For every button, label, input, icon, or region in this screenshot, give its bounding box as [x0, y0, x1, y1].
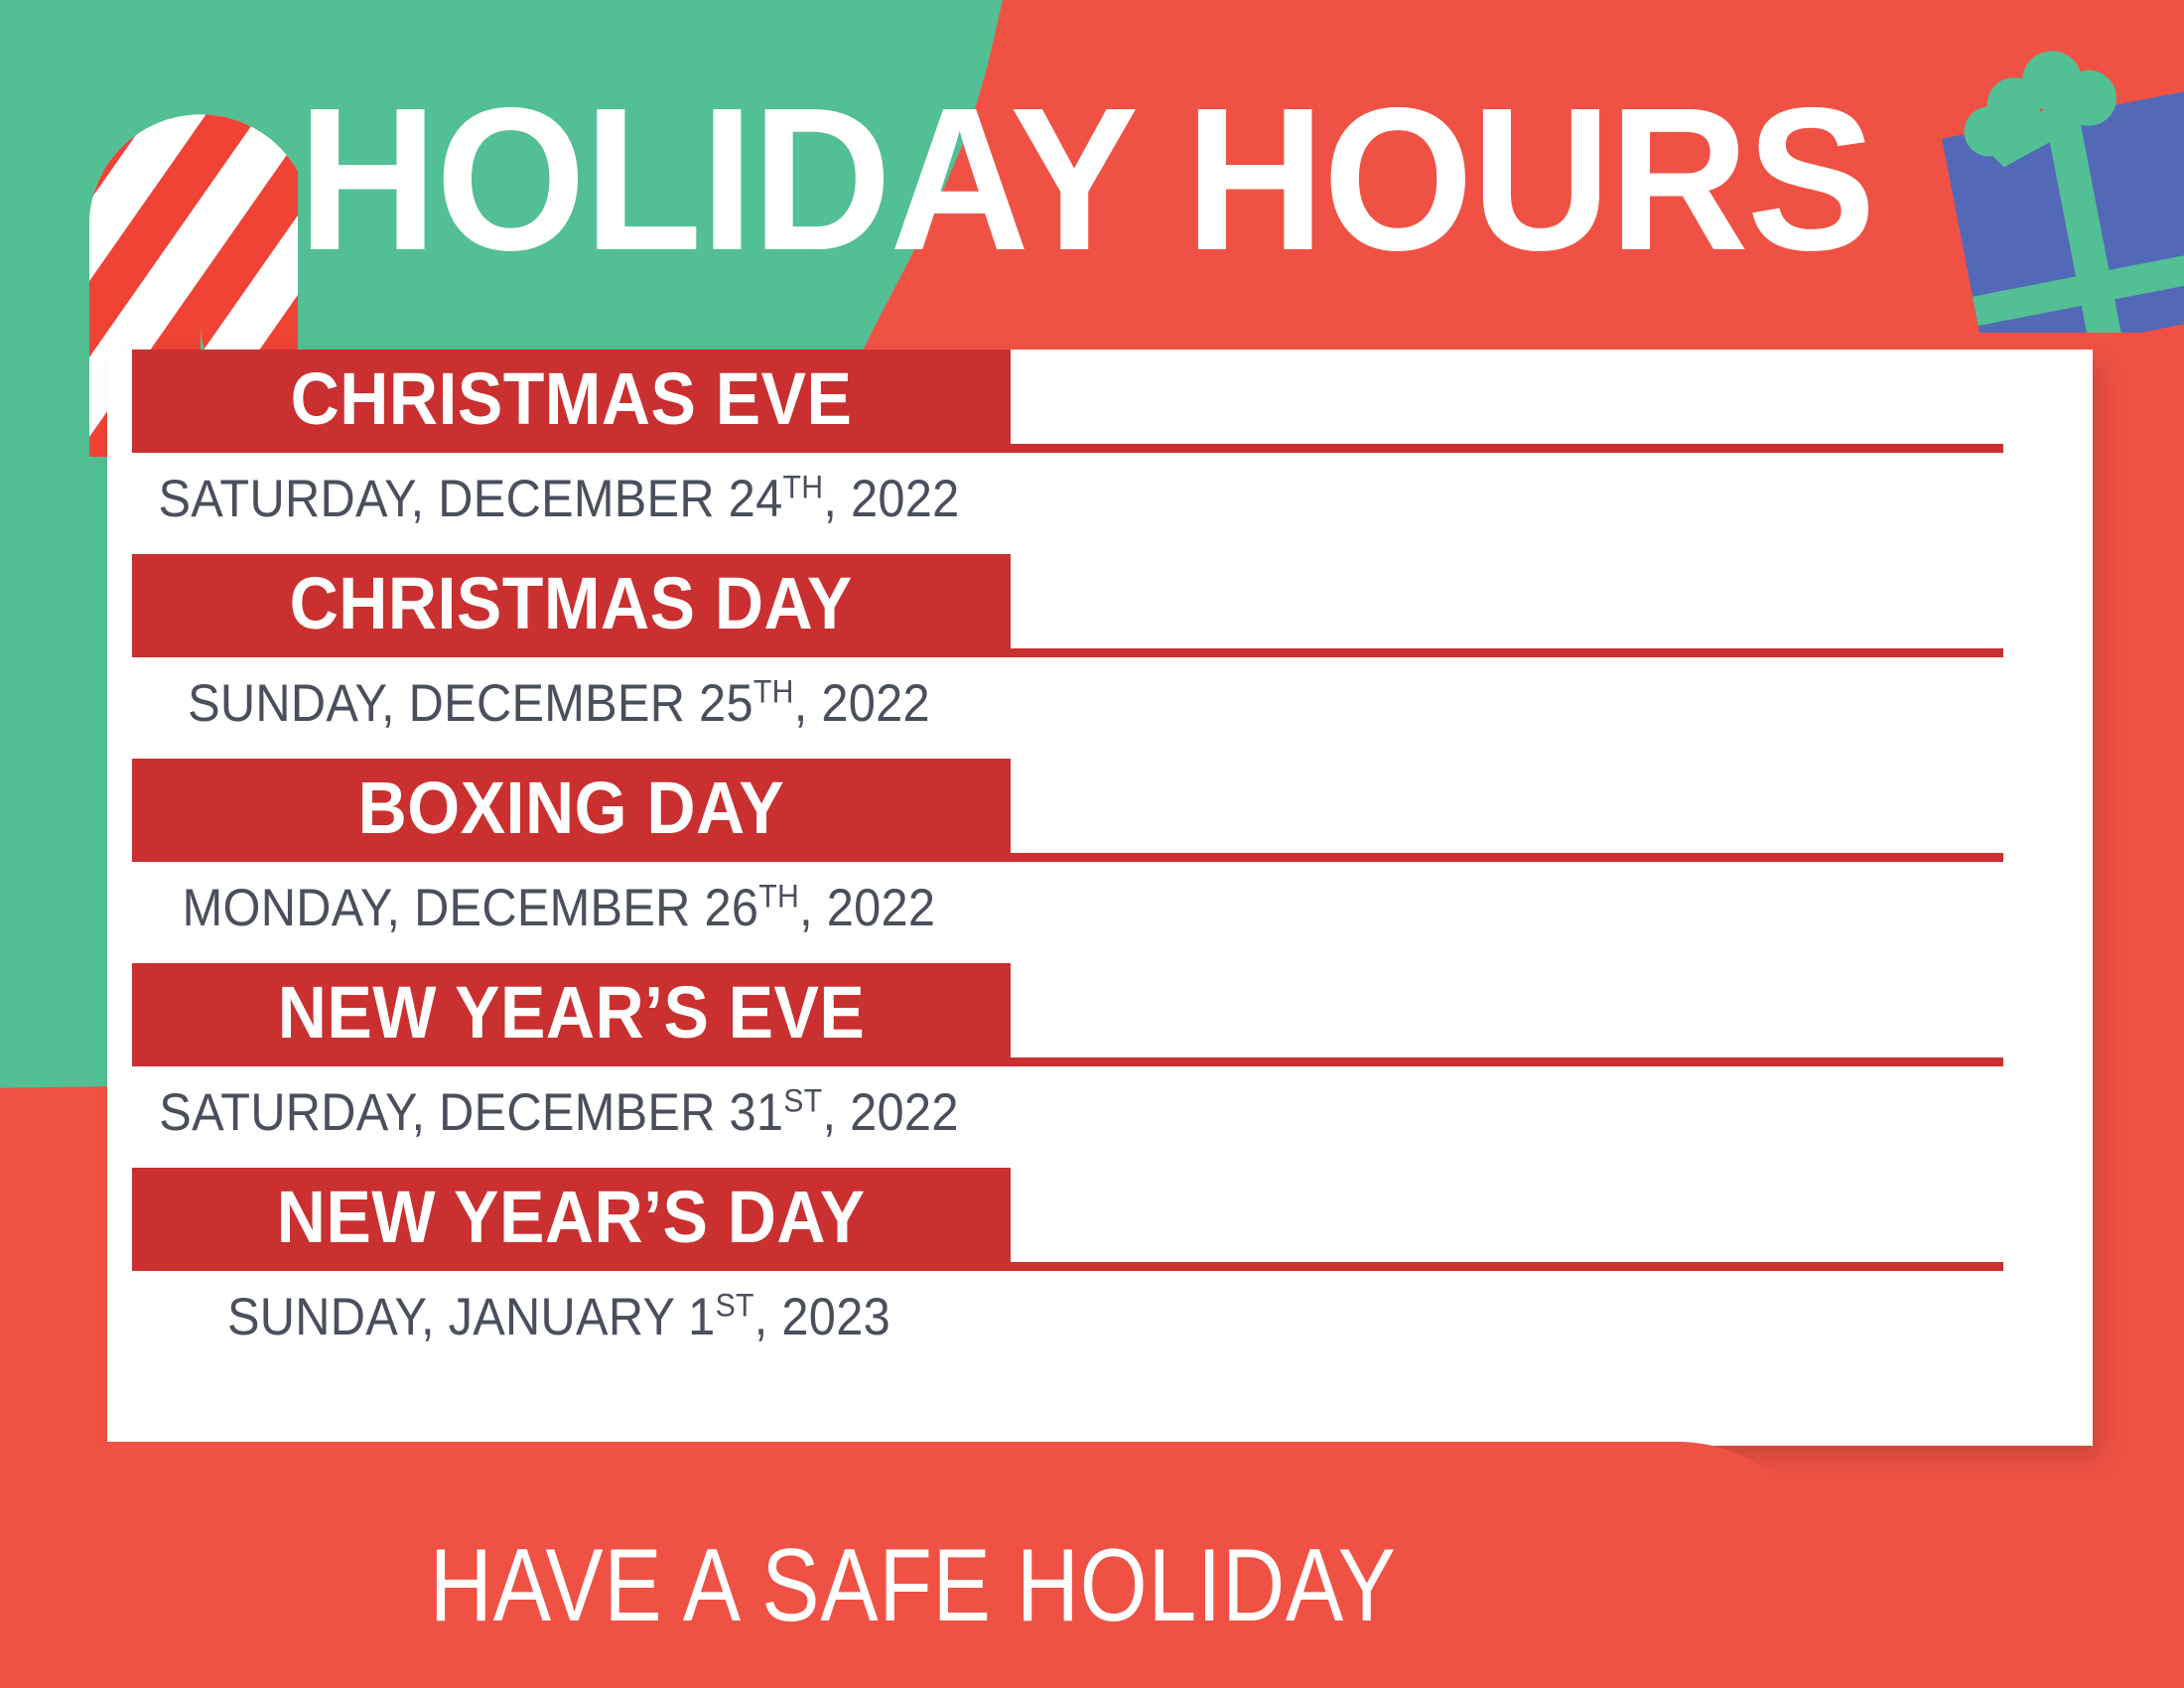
holiday-date: SUNDAY, JANUARY 1ST, 2023: [143, 1287, 974, 1347]
hours-rule-line: [1011, 648, 2003, 657]
holiday-date-year: , 2023: [754, 1288, 890, 1346]
holiday-date: SUNDAY, DECEMBER 25TH, 2022: [143, 673, 974, 734]
holiday-name: NEW YEAR’S EVE: [278, 976, 866, 1050]
holiday-hours-poster: HOLIDAY HOURS CHRISTMAS EVE SATURDAY, DE…: [0, 0, 2184, 1688]
holiday-banner: CHRISTMAS EVE: [132, 350, 1011, 453]
holiday-date-ordinal: TH: [782, 468, 823, 504]
banner-wrap: CHRISTMAS EVE: [107, 350, 2093, 453]
holiday-date-year: , 2022: [794, 674, 930, 733]
holiday-date-ordinal: ST: [783, 1081, 822, 1118]
holiday-name: NEW YEAR’S DAY: [277, 1181, 866, 1254]
holiday-banner: NEW YEAR’S DAY: [132, 1168, 1011, 1271]
holiday-date-year: , 2022: [823, 470, 959, 528]
schedule-row: NEW YEAR’S DAY SUNDAY, JANUARY 1ST, 2023: [107, 1168, 2093, 1372]
schedule-row: CHRISTMAS EVE SATURDAY, DECEMBER 24TH, 2…: [107, 350, 2093, 554]
holiday-date: MONDAY, DECEMBER 26TH, 2022: [143, 878, 974, 938]
holiday-date-weekday: SATURDAY, DECEMBER 31: [159, 1083, 783, 1142]
holiday-date-weekday: MONDAY, DECEMBER 26: [183, 879, 759, 937]
hours-rule-line: [1011, 1057, 2003, 1066]
schedule-rows: CHRISTMAS EVE SATURDAY, DECEMBER 24TH, 2…: [107, 350, 2093, 1372]
holiday-date-weekday: SATURDAY, DECEMBER 24: [158, 470, 782, 528]
holiday-banner: CHRISTMAS DAY: [132, 554, 1011, 657]
hours-rule-line: [1011, 1262, 2003, 1271]
schedule-card: CHRISTMAS EVE SATURDAY, DECEMBER 24TH, 2…: [107, 350, 2093, 1446]
holiday-date-year: , 2022: [822, 1083, 958, 1142]
holiday-name: CHRISTMAS EVE: [291, 362, 853, 436]
holiday-date-weekday: SUNDAY, JANUARY 1: [227, 1288, 716, 1346]
schedule-row: NEW YEAR’S EVE SATURDAY, DECEMBER 31ST, …: [107, 963, 2093, 1168]
banner-wrap: NEW YEAR’S EVE: [107, 963, 2093, 1066]
hours-rule-line: [1011, 853, 2003, 862]
bottom-ribbon: HAVE A SAFE HOLIDAY: [0, 1442, 1827, 1688]
gift-box-icon: [1941, 35, 2184, 333]
holiday-date-ordinal: TH: [758, 877, 799, 914]
banner-wrap: NEW YEAR’S DAY: [107, 1168, 2093, 1271]
holiday-date-weekday: SUNDAY, DECEMBER 25: [188, 674, 753, 733]
page-title: HOLIDAY HOURS: [298, 77, 1874, 281]
banner-wrap: BOXING DAY: [107, 759, 2093, 862]
hours-rule-line: [1011, 444, 2003, 453]
holiday-date: SATURDAY, DECEMBER 31ST, 2022: [143, 1082, 974, 1143]
schedule-row: CHRISTMAS DAY SUNDAY, DECEMBER 25TH, 202…: [107, 554, 2093, 759]
holiday-date-ordinal: ST: [716, 1286, 754, 1323]
tagline: HAVE A SAFE HOLIDAY: [430, 1534, 1397, 1637]
holiday-banner: NEW YEAR’S EVE: [132, 963, 1011, 1066]
banner-wrap: CHRISTMAS DAY: [107, 554, 2093, 657]
holiday-banner: BOXING DAY: [132, 759, 1011, 862]
holiday-date-year: , 2022: [799, 879, 935, 937]
holiday-date: SATURDAY, DECEMBER 24TH, 2022: [143, 469, 974, 529]
holiday-date-ordinal: TH: [753, 672, 794, 709]
holiday-name: BOXING DAY: [358, 772, 785, 845]
holiday-name: CHRISTMAS DAY: [290, 567, 853, 640]
schedule-row: BOXING DAY MONDAY, DECEMBER 26TH, 2022: [107, 759, 2093, 963]
